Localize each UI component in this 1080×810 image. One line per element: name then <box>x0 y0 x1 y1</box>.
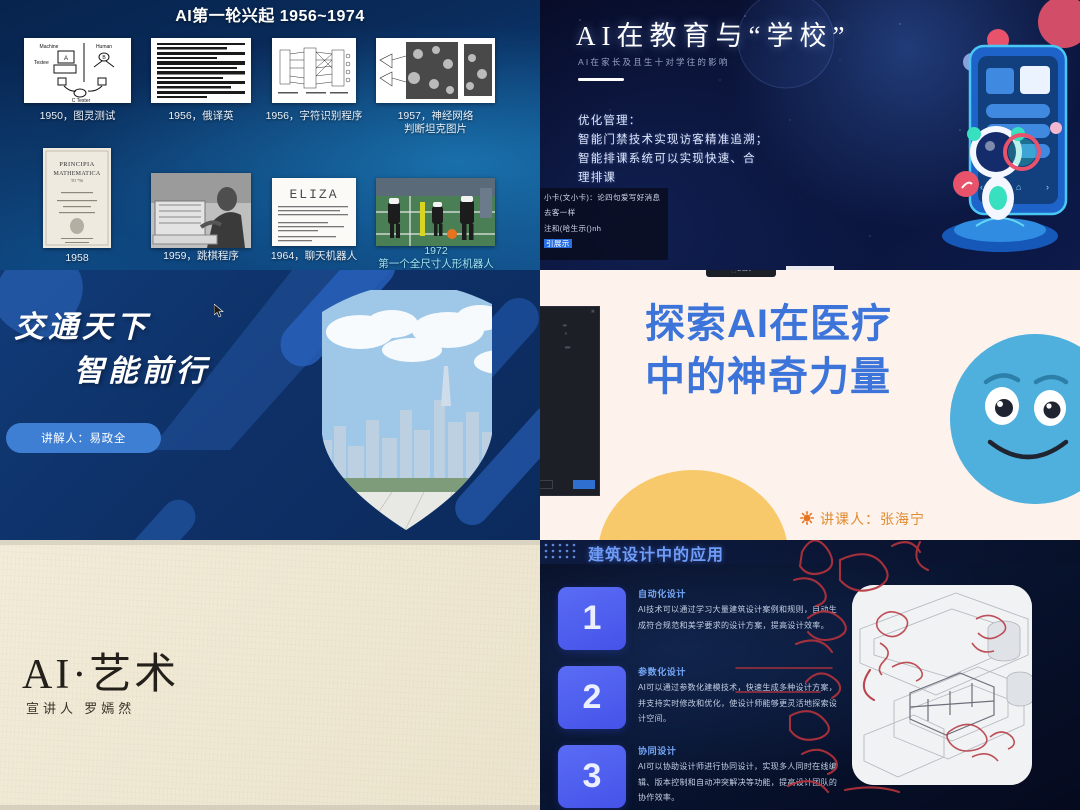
thumbnail-humanoid-robot <box>376 178 495 246</box>
caption-humanoid-robot: 1972 第一个全尺寸人形机器人 <box>366 245 506 270</box>
svg-text:ELIZA: ELIZA <box>289 187 338 202</box>
title-line-1: 探索AI在医疗 <box>645 298 892 351</box>
number-card-2: 2 <box>558 666 626 729</box>
chat-line-3: 注和(哈生示()nh <box>544 221 664 236</box>
title-line-2: 中的神奇力量 <box>645 351 892 404</box>
dot-grid-icon <box>544 543 582 561</box>
blueprint-image <box>852 585 1032 785</box>
slide-title: 交通天下 智能前行 <box>14 306 210 393</box>
caption-char-recognition: 1956，字符识别程序 <box>262 110 366 123</box>
slide-title: 探索AI在医疗 中的神奇力量 <box>645 298 892 404</box>
block-body-3: AI可以协助设计师进行协同设计，实现多人同时在线编辑、版本控制和自动冲突解决等功… <box>638 759 843 806</box>
panel-healthcare[interactable]: ⬚ ▪▪ ▪▪▪ ▪ ✕ ▪▪▪ ▪▪ ▪▪ ▪ ▪▪ ▪▪▪ ▪ <box>540 270 1080 540</box>
thumbnail-tank-neural-net <box>376 38 495 103</box>
blue-smiling-blob-illustration <box>950 334 1080 504</box>
panel-ai-education[interactable]: AI在教育与“学校” AI在家长及且生十对学往的影响 优化管理： 智能门禁技术实… <box>540 0 1080 270</box>
chat-badge[interactable]: 引展示 <box>544 239 572 248</box>
svg-text:Testee: Testee <box>34 60 49 66</box>
svg-text:›: › <box>1046 182 1049 192</box>
slide-grid: AI第一轮兴起 1956~1974 Machine Human Testee A… <box>0 0 1080 810</box>
thumbnail-checkers-program <box>151 173 251 248</box>
block-heading-1: 自动化设计 <box>638 587 686 600</box>
slide-title: 建筑设计中的应用 <box>588 541 724 565</box>
bottom-edge-divider <box>0 805 540 810</box>
title-line-1: 交通天下 <box>14 311 150 344</box>
slide-title: AI在教育与“学校” <box>576 14 850 53</box>
close-icon[interactable]: ✕ <box>591 309 595 315</box>
eliza-terminal-image: ELIZA <box>272 178 356 246</box>
svg-text:MATHEMATICA: MATHEMATICA <box>54 171 101 177</box>
svg-text:PRINCIPIA: PRINCIPIA <box>59 161 94 168</box>
page-title: AI第一轮兴起 1956~1974 <box>0 2 540 26</box>
speaker-label: 讲课人：张海宁 <box>820 509 925 529</box>
dialog-confirm-button[interactable] <box>573 480 595 489</box>
scanned-document-image <box>151 38 251 103</box>
dark-dialog-overlay[interactable]: ✕ ▪▪▪ ▪▪ ▪▪ ▪ ▪▪ ▪▪▪ ▪ ▪▪ ▪▪▪ <box>540 306 600 496</box>
svg-text:Human: Human <box>96 44 112 50</box>
panel-ai-history[interactable]: AI第一轮兴起 1956~1974 Machine Human Testee A… <box>0 0 540 270</box>
dialog-cancel-button[interactable] <box>540 480 553 489</box>
yellow-cloud-blob-illustration <box>598 470 788 540</box>
number-card-3: 3 <box>558 745 626 808</box>
number-card-1: 1 <box>558 587 626 650</box>
floating-toolbar-tag[interactable]: ⬚ ▪▪ ▪▪▪ ▪ <box>706 270 776 277</box>
tank-photo-collage <box>376 38 495 103</box>
block-heading-3: 协同设计 <box>638 744 676 757</box>
chat-line-2: 去客一样 <box>544 205 664 220</box>
svg-text:C Tester: C Tester <box>72 98 91 103</box>
svg-text:Machine: Machine <box>40 44 59 50</box>
panel-transportation[interactable]: 交通天下 智能前行 讲解人：易政全 <box>0 270 540 540</box>
sun-icon <box>800 511 814 525</box>
slide-title: AI·艺术 <box>22 640 179 701</box>
caption-eliza: 1964，聊天机器人 <box>262 250 366 263</box>
thumbnail-russian-english <box>151 38 251 103</box>
panel-architecture[interactable]: 建筑设计中的应用 1 自动化设计 AI技术可以通过学习大量建筑设计案例和规则，自… <box>540 540 1080 810</box>
top-edge-divider <box>0 540 540 545</box>
thumbnail-char-recognition <box>272 38 356 103</box>
turing-test-diagram: Machine Human Testee A B C Tester <box>24 38 131 103</box>
man-at-computer-photo <box>151 173 251 248</box>
caption-turing-test: 1950，图灵测试 <box>24 110 131 123</box>
caption-russian-english: 1956，俄译英 <box>151 110 251 123</box>
svg-text:A: A <box>64 56 68 62</box>
title-line-2: 智能前行 <box>74 350 210 394</box>
speaker-button[interactable]: 讲解人：易政全 <box>6 423 161 453</box>
block-body-1: AI技术可以通过学习大量建筑设计案例和规则，自动生成符合规范和美学要求的设计方案… <box>638 602 843 633</box>
speaker-label: 宣讲人 罗嫣然 <box>26 698 135 717</box>
astronaut-phone-illustration: ‹⌂› <box>850 0 1080 270</box>
mouse-cursor-icon <box>214 304 224 318</box>
svg-text:⌂: ⌂ <box>1016 182 1021 192</box>
robot-soccer-photo <box>376 178 495 246</box>
thumbnail-eliza: ELIZA <box>272 178 356 246</box>
architectural-blueprint-photo <box>852 585 1032 785</box>
block-heading-2: 参数化设计 <box>638 665 686 678</box>
panel-ai-art[interactable]: AI·艺术 宣讲人 罗嫣然 <box>0 540 540 810</box>
title-underline <box>578 78 624 81</box>
slide-body-text: 优化管理： 智能门禁技术实现访客精准追溯； 智能排课系统可以实现快速、合 理排课 <box>578 112 769 188</box>
chat-overlay[interactable]: 小卡(文小卡)：论四句爱写好消息 去客一样 注和(哈生示()nh 引展示 <box>540 188 668 260</box>
svg-text:TO *56: TO *56 <box>71 178 83 183</box>
chat-line-1: 小卡(文小卡)：论四句爱写好消息 <box>544 190 664 205</box>
caption-tank-neural-net: 1957，神经网络 判断坦克图片 <box>376 110 495 136</box>
book-cover-image: PRINCIPIA MATHEMATICA TO *56 <box>43 148 111 248</box>
svg-text:‹: ‹ <box>980 182 983 192</box>
thumbnail-turing-test: Machine Human Testee A B C Tester <box>24 38 131 103</box>
slide-subtitle: AI在家长及且生十对学往的影响 <box>578 56 730 68</box>
network-diagram-image <box>272 38 356 103</box>
caption-principia: 1958 <box>43 252 111 265</box>
caption-checkers-program: 1959，跳棋程序 <box>151 250 251 263</box>
thumbnail-principia: PRINCIPIA MATHEMATICA TO *56 <box>43 148 111 248</box>
block-body-2: AI可以通过参数化建模技术，快速生成多种设计方案，并支持实时修改和优化，使设计师… <box>638 680 843 727</box>
